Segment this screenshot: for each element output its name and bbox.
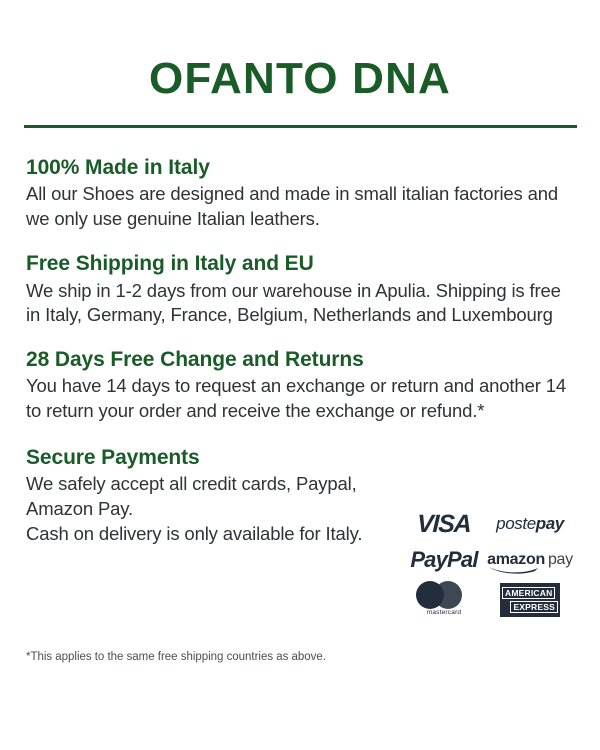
page-title: OFANTO DNA xyxy=(0,57,600,101)
mastercard-circles-icon xyxy=(416,581,472,609)
section-made-in-italy: 100% Made in Italy All our Shoes are des… xyxy=(26,155,574,231)
section-heading-secure-payments: Secure Payments xyxy=(26,445,574,470)
amex-line-2: EXPRESS xyxy=(510,601,558,614)
section-body-free-shipping: We ship in 1-2 days from our warehouse i… xyxy=(26,279,574,328)
section-body-secure-payments: We safely accept all credit cards, Paypa… xyxy=(26,472,386,521)
section-body-made-in-italy: All our Shoes are designed and made in s… xyxy=(26,182,574,231)
visa-logo: VISA xyxy=(404,510,484,539)
payment-row-3: mastercard AMERICAN EXPRESS xyxy=(404,578,580,622)
payment-methods: VISA postepay PayPal amazonpay xyxy=(404,506,580,622)
amex-badge: AMERICAN EXPRESS xyxy=(500,583,560,617)
mastercard-label: mastercard xyxy=(414,609,474,616)
payment-row-2: PayPal amazonpay xyxy=(404,542,580,578)
amex-line-1: AMERICAN xyxy=(502,587,555,600)
payment-row-1: VISA postepay xyxy=(404,506,580,542)
amazon-pay-wordmark: amazonpay xyxy=(487,551,573,569)
amazon-pay-suffix: pay xyxy=(548,551,573,568)
ofanto-dna-info-panel: OFANTO DNA 100% Made in Italy All our Sh… xyxy=(0,0,600,750)
mastercard-mark: mastercard xyxy=(416,581,472,619)
section-free-shipping: Free Shipping in Italy and EU We ship in… xyxy=(26,251,574,327)
mastercard-logo: mastercard xyxy=(404,581,484,619)
content-sections: 100% Made in Italy All our Shoes are des… xyxy=(26,155,574,546)
amazon-smile-icon xyxy=(488,566,540,574)
section-heading-made-in-italy: 100% Made in Italy xyxy=(26,155,574,180)
section-heading-returns: 28 Days Free Change and Returns xyxy=(26,347,574,372)
postepay-logo: postepay xyxy=(484,514,576,534)
amazon-pay-logo: amazonpay xyxy=(484,551,576,569)
american-express-logo: AMERICAN EXPRESS xyxy=(484,583,576,617)
postepay-wordmark: postepay xyxy=(496,514,564,534)
mastercard-circle-right xyxy=(434,581,462,609)
postepay-wordmark-bold: pay xyxy=(536,514,564,533)
section-body-returns: You have 14 days to request an exchange … xyxy=(26,374,574,423)
section-heading-free-shipping: Free Shipping in Italy and EU xyxy=(26,251,574,276)
title-divider xyxy=(24,125,577,128)
footnote: *This applies to the same free shipping … xyxy=(26,651,326,663)
postepay-wordmark-light: poste xyxy=(496,514,536,533)
section-returns: 28 Days Free Change and Returns You have… xyxy=(26,347,574,423)
paypal-wordmark: PayPal xyxy=(410,547,477,573)
visa-wordmark: VISA xyxy=(417,510,472,539)
paypal-logo: PayPal xyxy=(404,547,484,573)
